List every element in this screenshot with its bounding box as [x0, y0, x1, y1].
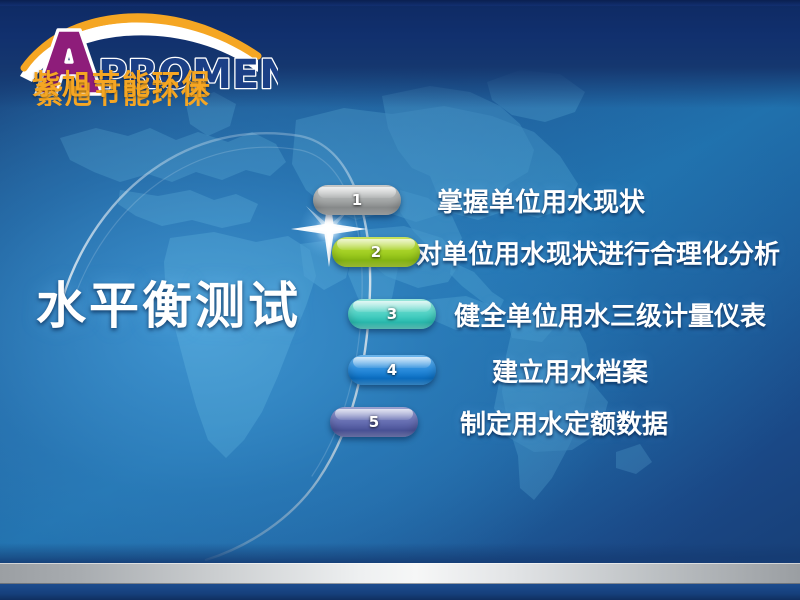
- step-number: 1: [352, 191, 362, 209]
- step-label-1: 掌握单位用水现状: [437, 182, 645, 219]
- step-number: 2: [371, 243, 381, 261]
- step-badge-2[interactable]: 2: [332, 237, 420, 267]
- list-item: 2 对单位用水现状进行合理化分析: [332, 232, 780, 272]
- slide-canvas: PROMEN 紫旭节能环保 紫旭节能环保 水平衡测试 1: [0, 0, 800, 600]
- footer-shadow: [0, 543, 800, 563]
- list-item: 1 掌握单位用水现状: [313, 180, 645, 220]
- step-label-4: 建立用水档案: [492, 352, 648, 389]
- step-number: 5: [369, 413, 379, 431]
- step-number: 3: [387, 305, 397, 323]
- step-label-5: 制定用水定额数据: [460, 404, 668, 441]
- step-badge-4[interactable]: 4: [348, 355, 436, 385]
- bullet-list: 1 掌握单位用水现状 2 对单位用水现状进行合理化分析 3 健全单位用水三级计量…: [0, 0, 800, 600]
- list-item: 4 建立用水档案: [348, 350, 648, 390]
- footer-navy-band: [0, 584, 800, 600]
- step-number: 4: [387, 361, 397, 379]
- list-item: 3 健全单位用水三级计量仪表: [348, 294, 766, 334]
- list-item: 5 制定用水定额数据: [330, 402, 668, 442]
- step-label-3: 健全单位用水三级计量仪表: [454, 296, 766, 333]
- step-badge-1[interactable]: 1: [313, 185, 401, 215]
- footer-silver-band: [0, 563, 800, 584]
- step-badge-3[interactable]: 3: [348, 299, 436, 329]
- step-label-2: 对单位用水现状进行合理化分析: [416, 234, 780, 271]
- step-badge-5[interactable]: 5: [330, 407, 418, 437]
